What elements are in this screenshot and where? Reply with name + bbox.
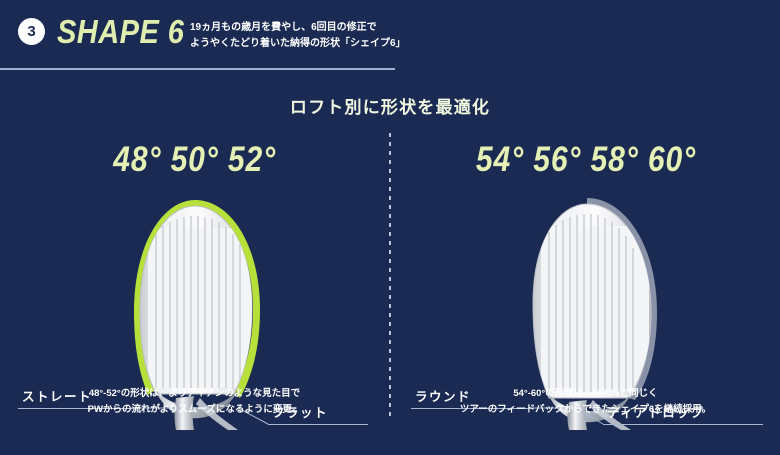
caption-right-line-1: 54°-60°の形状は、OPUSと同じく (391, 386, 780, 402)
caption-left: 48°-52°の形状は、よりアイアンのような見た目で PWからの流れがよりスムー… (0, 386, 389, 418)
callout-teardrop-underline (603, 424, 763, 425)
loft-values-right-text: 54° 56° 58° 60° (475, 140, 695, 180)
loft-values-right: 54° 56° 58° 60° (391, 140, 780, 180)
caption-right-line-2: ツアーのフィードバックからできたシェイプ6を継続採用。 (391, 402, 780, 418)
caption-left-line-2: PWからの流れがよりスムーズになるように変更。 (0, 402, 389, 418)
caption-left-line-1: 48°-52°の形状は、よりアイアンのような見た目で (0, 386, 389, 402)
section-subtitle-line-1: 19ヵ月もの歳月を費やし、6回目の修正で (190, 20, 406, 36)
section-number-badge: 3 (18, 18, 45, 45)
callout-flat-underline (268, 424, 368, 425)
caption-right: 54°-60°の形状は、OPUSと同じく ツアーのフィードバックからできたシェイ… (391, 386, 780, 418)
header-divider (0, 68, 395, 70)
panel-right-lofts: 54° 56° 58° 60° (391, 130, 780, 430)
shape6-infographic: 3 SHAPE 6 19ヵ月もの歳月を費やし、6回目の修正で ようやくたどり着い… (0, 0, 780, 455)
main-heading: ロフト別に形状を最適化 (0, 93, 780, 118)
section-subtitle: 19ヵ月もの歳月を費やし、6回目の修正で ようやくたどり着いた納得の形状「シェイ… (190, 20, 406, 51)
panel-left-lofts: 48° 50° 52° (0, 130, 389, 430)
section-header: 3 SHAPE 6 19ヵ月もの歳月を費やし、6回目の修正で ようやくたどり着い… (0, 0, 780, 68)
loft-values-left: 48° 50° 52° (0, 140, 389, 180)
loft-values-left-text: 48° 50° 52° (113, 140, 276, 180)
section-subtitle-line-2: ようやくたどり着いた納得の形状「シェイプ6」 (190, 36, 406, 52)
section-title: SHAPE 6 (57, 13, 184, 51)
